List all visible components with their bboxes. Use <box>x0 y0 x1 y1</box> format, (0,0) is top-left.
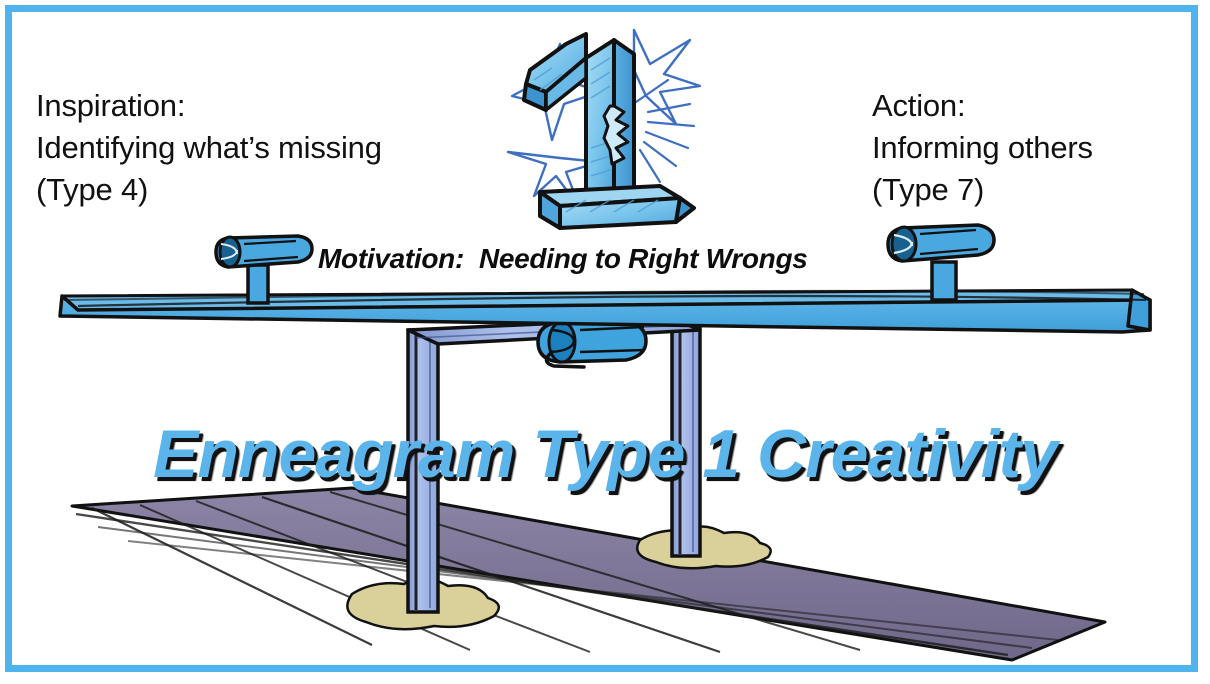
action-label: Action: Informing others (Type 7) <box>872 85 1093 211</box>
left-handle <box>216 236 312 303</box>
sparkle-rays-icon <box>636 80 694 182</box>
motivation-label: Motivation: Needing to Right Wrongs <box>318 243 808 275</box>
right-handle <box>888 225 994 300</box>
sand-patch-right <box>637 526 770 568</box>
ground-board <box>72 488 1105 660</box>
slide-canvas: Inspiration: Identifying what’s missing … <box>0 0 1210 684</box>
fulcrum-pivot <box>538 322 646 367</box>
page-title: Enneagram Type 1 Creativity <box>0 415 1210 493</box>
numeral-one-graphic <box>508 30 700 228</box>
seesaw-plank <box>60 290 1150 332</box>
inspiration-label: Inspiration: Identifying what’s missing … <box>36 85 382 211</box>
